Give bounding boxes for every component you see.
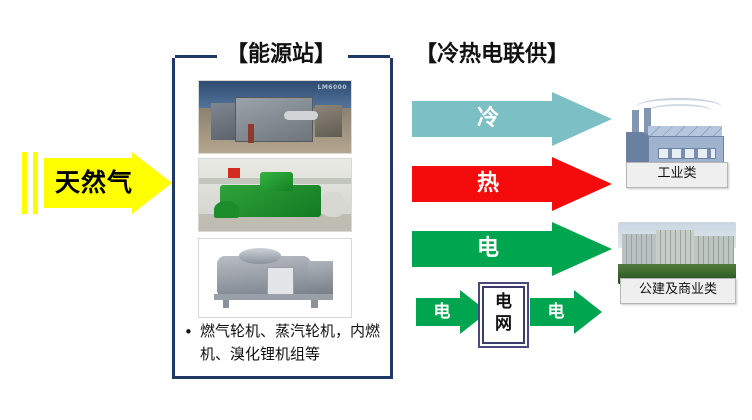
cchp-title: 【冷热电联供】 bbox=[415, 40, 625, 70]
cooling-label: 冷 bbox=[458, 104, 518, 134]
photo-chiller-side bbox=[308, 261, 332, 295]
photo-structure-right bbox=[315, 105, 342, 137]
power-output-arrow: 电 bbox=[412, 222, 612, 276]
photo-engine-side bbox=[214, 201, 238, 218]
power-label: 电 bbox=[458, 234, 518, 264]
natural-gas-arrow: 天然气 bbox=[0, 152, 172, 214]
power-grid-label-line2: 网 bbox=[480, 312, 527, 337]
power-from-grid-label: 电 bbox=[538, 301, 574, 323]
power-to-grid-label: 电 bbox=[424, 301, 460, 323]
photo-chiller-leg-left bbox=[223, 300, 229, 308]
residential-buildings-photo bbox=[618, 222, 736, 284]
photo-engine-top bbox=[260, 172, 293, 191]
heating-label: 热 bbox=[458, 169, 518, 199]
frame-top-right-rule bbox=[348, 55, 390, 58]
power-from-grid-head bbox=[574, 290, 602, 334]
photo-tank bbox=[321, 192, 345, 216]
cooling-output-arrow: 冷 bbox=[412, 92, 612, 146]
photo-structure-left bbox=[211, 103, 238, 140]
equipment-bullet-item: • 燃气轮机、蒸汽轮机，内燃机、溴化锂机组等 bbox=[182, 320, 382, 372]
equipment-list-text: 燃气轮机、蒸汽轮机，内燃机、溴化锂机组等 bbox=[200, 320, 382, 366]
building-block-center bbox=[656, 230, 694, 266]
industrial-caption: 工业类 bbox=[626, 162, 728, 188]
cooling-arrow-head bbox=[552, 92, 612, 146]
commercial-consumer: 公建及商业类 bbox=[618, 222, 736, 304]
photo-detail bbox=[248, 124, 254, 143]
natural-gas-label: 天然气 bbox=[48, 164, 140, 202]
absorption-chiller-photo bbox=[198, 238, 352, 318]
frame-top-left-rule bbox=[175, 55, 217, 58]
power-arrow-head bbox=[552, 222, 612, 276]
photo-control-panel bbox=[228, 168, 240, 178]
building-block-left bbox=[622, 234, 656, 266]
photo-chiller-drum bbox=[239, 248, 282, 264]
smoke-plume-lower bbox=[648, 104, 712, 118]
motion-stripe-outer bbox=[22, 152, 27, 214]
reciprocating-engine-photo bbox=[198, 158, 352, 232]
heating-output-arrow: 热 bbox=[412, 157, 612, 211]
commercial-caption: 公建及商业类 bbox=[620, 278, 736, 304]
bullet-marker: • bbox=[184, 321, 193, 344]
diagram-canvas: 天然气 【能源站】 LM6000 • 燃气轮 bbox=[0, 0, 752, 420]
heating-arrow-head bbox=[552, 157, 612, 211]
factory-windows bbox=[658, 148, 716, 159]
power-grid-box: 电 网 bbox=[478, 282, 529, 348]
building-block-right bbox=[694, 236, 734, 266]
photo-watermark: LM6000 bbox=[318, 84, 348, 91]
industrial-consumer: 工业类 bbox=[618, 96, 736, 188]
gas-turbine-photo: LM6000 bbox=[198, 80, 352, 154]
photo-duct bbox=[284, 111, 317, 120]
power-from-grid-arrow: 电 bbox=[530, 290, 602, 334]
photo-chiller-leg-right bbox=[311, 300, 317, 308]
motion-stripe-inner bbox=[33, 152, 38, 214]
photo-chiller-panel bbox=[267, 267, 293, 296]
